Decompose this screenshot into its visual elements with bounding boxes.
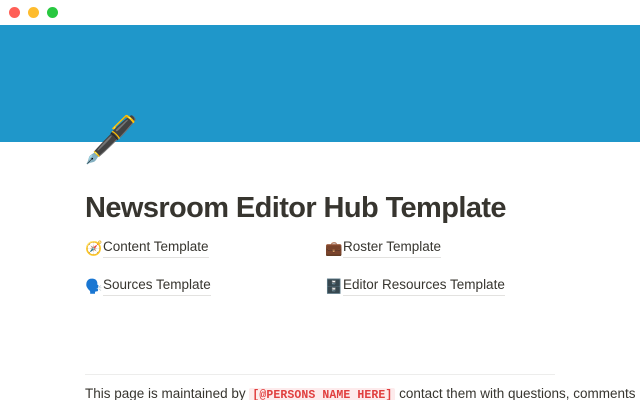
footer-text-before: This page is maintained by: [85, 386, 246, 400]
footer-maintainer-note: This page is maintained by [@PERSONS NAM…: [85, 384, 605, 400]
template-links-grid: 🧭 Content Template 💼 Roster Template 🗣️ …: [85, 238, 565, 314]
compass-icon: 🧭: [85, 239, 103, 257]
link-item-content-template[interactable]: 🧭 Content Template: [85, 238, 325, 258]
footer-text-after: contact them with questions, comments: [399, 386, 635, 400]
link-label[interactable]: Roster Template: [343, 238, 441, 258]
minimize-window-button[interactable]: [28, 7, 39, 18]
section-divider: [85, 374, 555, 375]
person-mention-placeholder[interactable]: [@PERSONS NAME HERE]: [249, 388, 395, 400]
page-title[interactable]: Newsroom Editor Hub Template: [85, 192, 506, 225]
traffic-lights: [9, 7, 58, 18]
app-window: 🖋️ Newsroom Editor Hub Template 🧭 Conten…: [0, 0, 640, 400]
template-links-row: 🗣️ Sources Template 🗄️ Editor Resources …: [85, 276, 565, 296]
link-item-sources-template[interactable]: 🗣️ Sources Template: [85, 276, 325, 296]
link-label[interactable]: Content Template: [103, 238, 209, 258]
link-label[interactable]: Editor Resources Template: [343, 276, 505, 296]
template-links-row: 🧭 Content Template 💼 Roster Template: [85, 238, 565, 258]
link-label[interactable]: Sources Template: [103, 276, 211, 296]
maximize-window-button[interactable]: [47, 7, 58, 18]
window-titlebar: [0, 0, 640, 25]
file-cabinet-icon: 🗄️: [325, 277, 343, 295]
page-content: Newsroom Editor Hub Template 🧭 Content T…: [0, 142, 640, 400]
speaking-head-icon: 🗣️: [85, 277, 103, 295]
link-item-roster-template[interactable]: 💼 Roster Template: [325, 238, 565, 258]
fountain-pen-icon[interactable]: 🖋️: [83, 112, 139, 168]
close-window-button[interactable]: [9, 7, 20, 18]
link-item-editor-resources-template[interactable]: 🗄️ Editor Resources Template: [325, 276, 565, 296]
briefcase-icon: 💼: [325, 239, 343, 257]
